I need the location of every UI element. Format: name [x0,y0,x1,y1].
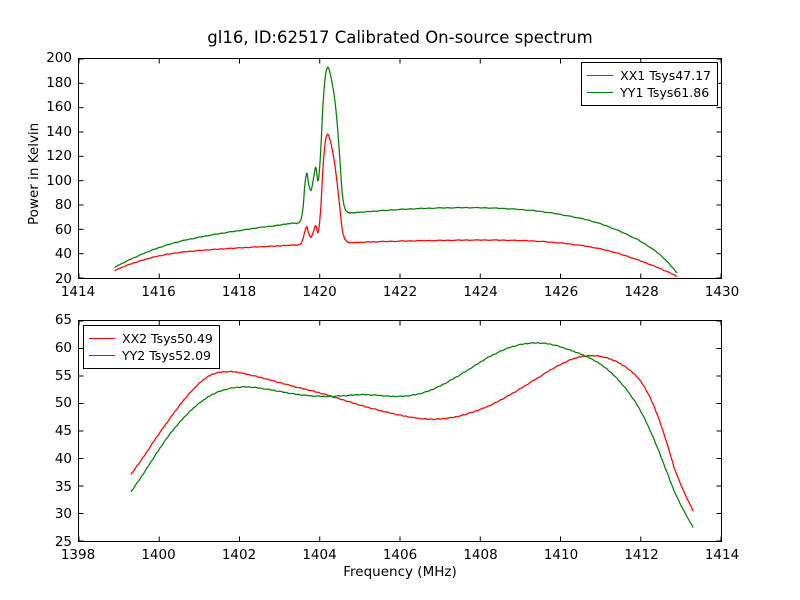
bottom-x-axis-label: Frequency (MHz) [343,564,456,580]
y-tick-label: 40 [16,451,72,467]
x-tick-label: 1404 [302,547,336,563]
x-tick-label: 1426 [544,284,578,300]
y-tick-label: 140 [16,124,72,140]
bottom-legend: XX2 Tsys50.49YY2 Tsys52.09 [83,325,220,369]
legend-label: XX2 Tsys50.49 [122,331,213,346]
top-spectrum-axes: XX1 Tsys47.17YY1 Tsys61.86 [78,58,722,279]
legend-color-swatch [587,92,613,93]
y-tick-label: 60 [16,222,72,238]
y-tick-label: 80 [16,197,72,213]
y-tick-label: 160 [16,99,72,115]
legend-label: XX1 Tsys47.17 [620,68,711,83]
legend-label: YY2 Tsys52.09 [122,348,211,363]
page-title: gl16, ID:62517 Calibrated On-source spec… [0,28,800,47]
legend-item: YY2 Tsys52.09 [89,347,213,364]
y-tick-label: 30 [16,506,72,522]
x-tick-label: 1412 [624,547,658,563]
x-tick-label: 1418 [222,284,256,300]
y-tick-label: 100 [16,173,72,189]
legend-color-swatch [587,75,613,76]
legend-label: YY1 Tsys61.86 [620,85,709,100]
top-y-axis-label: Power in Kelvin [26,123,42,225]
y-tick-label: 55 [16,368,72,384]
series-line [131,343,693,528]
x-tick-label: 1414 [61,284,95,300]
x-tick-label: 1430 [705,284,739,300]
y-tick-label: 65 [16,312,72,328]
x-tick-label: 1422 [383,284,417,300]
x-tick-label: 1410 [544,547,578,563]
legend-item: YY1 Tsys61.86 [587,84,711,101]
legend-color-swatch [89,355,115,356]
bottom-spectrum-axes: XX2 Tsys50.49YY2 Tsys52.09 [78,320,722,542]
legend-item: XX2 Tsys50.49 [89,330,213,347]
x-tick-label: 1416 [141,284,175,300]
x-tick-label: 1408 [463,547,497,563]
x-tick-label: 1398 [61,547,95,563]
x-tick-label: 1420 [302,284,336,300]
x-tick-label: 1414 [705,547,739,563]
x-tick-label: 1402 [222,547,256,563]
y-tick-label: 45 [16,423,72,439]
y-tick-label: 60 [16,340,72,356]
y-tick-label: 200 [16,50,72,66]
y-tick-label: 180 [16,75,72,91]
y-tick-label: 35 [16,479,72,495]
legend-color-swatch [89,338,115,339]
figure-canvas: gl16, ID:62517 Calibrated On-source spec… [0,0,800,600]
y-tick-label: 50 [16,395,72,411]
series-line [115,134,677,276]
x-tick-label: 1406 [383,547,417,563]
x-tick-label: 1428 [624,284,658,300]
x-tick-label: 1424 [463,284,497,300]
y-tick-label: 120 [16,148,72,164]
y-tick-label: 40 [16,246,72,262]
top-legend: XX1 Tsys47.17YY1 Tsys61.86 [581,62,718,106]
x-tick-label: 1400 [141,547,175,563]
series-line [131,355,693,510]
legend-item: XX1 Tsys47.17 [587,67,711,84]
